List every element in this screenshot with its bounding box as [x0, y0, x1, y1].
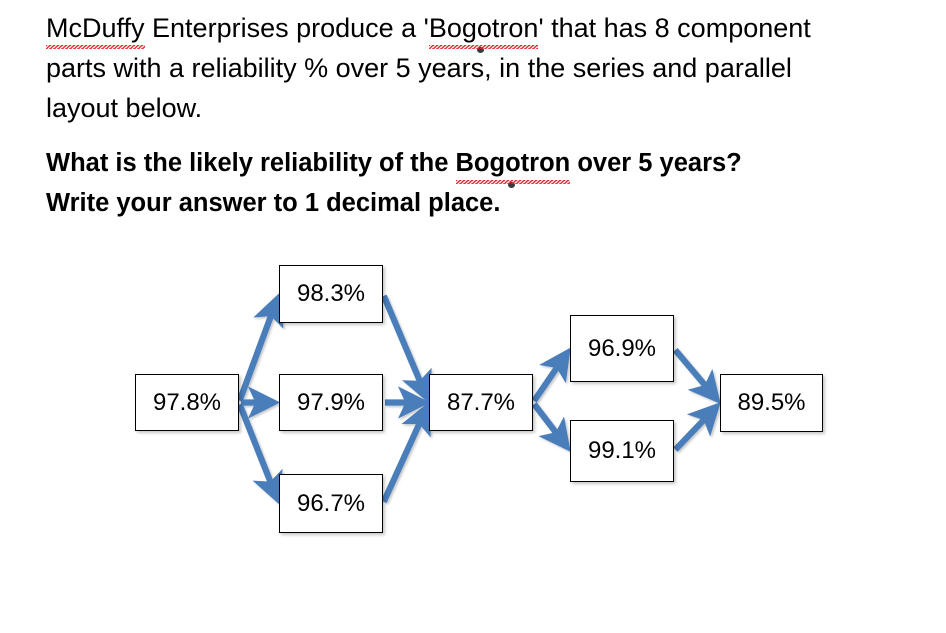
diagram-node-parallel-a-top: 98.3% — [279, 265, 383, 323]
node-label: 96.7% — [297, 490, 365, 518]
diagram-node-series: 87.7% — [429, 374, 533, 431]
node-label: 96.9% — [588, 335, 656, 363]
diagram-arrow-n5-to-n7 — [534, 404, 567, 447]
diagram-arrow-n6-to-n8 — [675, 350, 717, 399]
diagram-arrow-n5-to-n6 — [534, 353, 567, 401]
diagram-node-parallel-a-bottom: 96.7% — [279, 474, 383, 533]
diagram-node-output: 89.5% — [720, 374, 823, 432]
page-root: McDuffy Enterprises produce a 'Bogotron'… — [0, 0, 946, 633]
diagram-node-parallel-b-top: 96.9% — [570, 315, 674, 382]
node-label: 98.3% — [297, 280, 365, 308]
diagram-arrow-n7-to-n8 — [675, 407, 716, 450]
diagram-arrow-n2-to-n5 — [384, 296, 427, 398]
diagram-node-parallel-b-bottom: 99.1% — [570, 420, 674, 482]
reliability-block-diagram: 97.8%98.3%97.9%96.7%87.7%96.9%99.1%89.5% — [0, 0, 946, 633]
diagram-arrow-n4-to-n5 — [384, 407, 427, 502]
node-label: 99.1% — [588, 437, 656, 465]
node-label: 97.9% — [297, 389, 365, 417]
diagram-node-input: 97.8% — [135, 374, 239, 431]
node-label: 87.7% — [447, 389, 515, 417]
diagram-arrow-n1-to-n2 — [240, 299, 278, 401]
diagram-arrow-layer — [0, 0, 946, 633]
diagram-arrow-n1-to-n4 — [240, 404, 278, 499]
node-label: 89.5% — [737, 389, 805, 417]
diagram-node-parallel-a-middle: 97.9% — [279, 374, 383, 431]
node-label: 97.8% — [153, 389, 221, 417]
